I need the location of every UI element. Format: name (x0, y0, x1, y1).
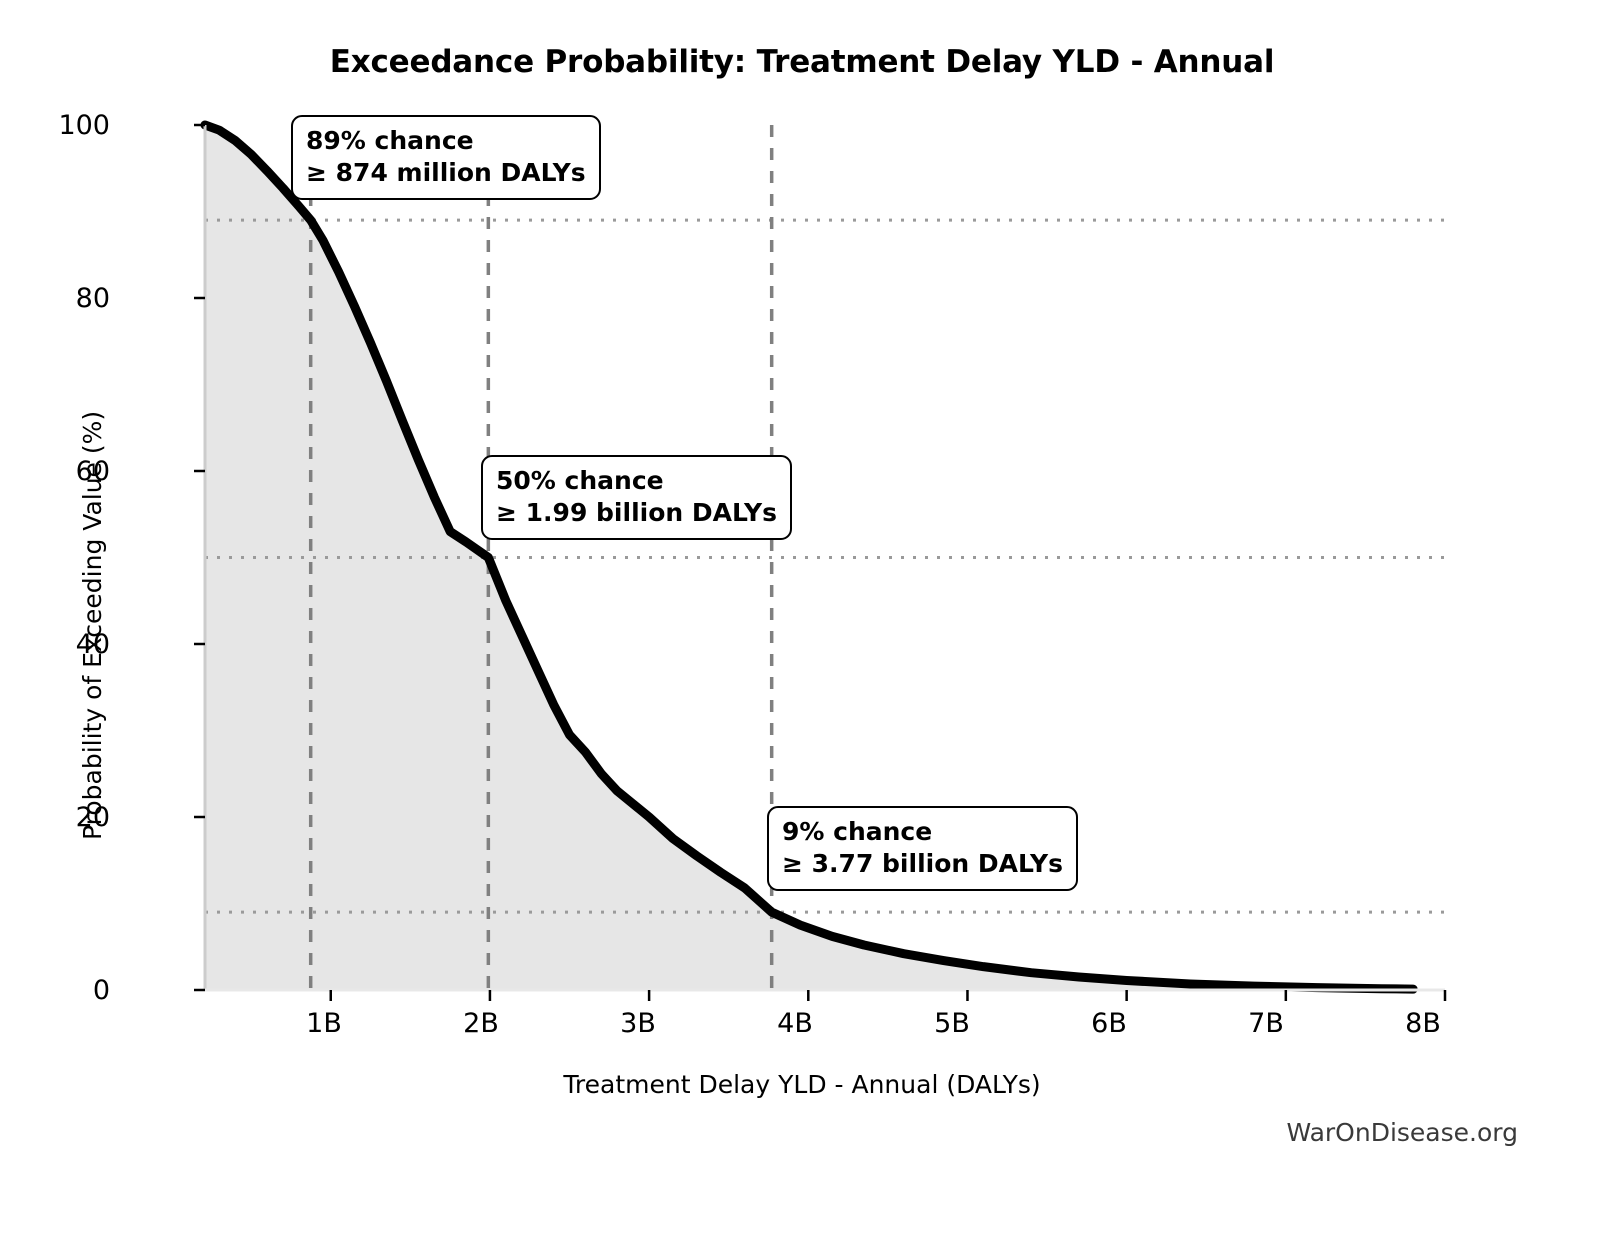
x-tick-label-2B: 2B (441, 1008, 521, 1039)
x-tick-label-6B: 6B (1069, 1008, 1149, 1039)
x-tick-label-3B: 3B (598, 1008, 678, 1039)
plot-canvas (0, 0, 1604, 1234)
x-axis-label: Treatment Delay YLD - Annual (DALYs) (0, 1070, 1604, 1099)
x-tick-label-7B: 7B (1226, 1008, 1306, 1039)
y-axis-label-wrap: Probability of Exceeding Value (%) (0, 0, 100, 1000)
site-credit: WarOnDisease.org (1286, 1118, 1518, 1147)
annotation-9-percent: 9% chance ≥ 3.77 billion DALYs (767, 806, 1078, 891)
exceedance-probability-chart: Exceedance Probability: Treatment Delay … (0, 0, 1604, 1234)
x-tick-label-1B: 1B (284, 1008, 364, 1039)
x-tick-label-8B: 8B (1383, 1008, 1463, 1039)
annotation-89-line1: 89% chance (306, 125, 586, 157)
x-tick-label-5B: 5B (912, 1008, 992, 1039)
annotation-9-line1: 9% chance (782, 816, 1063, 848)
annotation-50-line2: ≥ 1.99 billion DALYs (496, 497, 777, 529)
annotation-89-percent: 89% chance ≥ 874 million DALYs (291, 115, 601, 200)
annotation-50-percent: 50% chance ≥ 1.99 billion DALYs (481, 455, 792, 540)
x-tick-label-4B: 4B (755, 1008, 835, 1039)
annotation-9-line2: ≥ 3.77 billion DALYs (782, 848, 1063, 880)
annotation-89-line2: ≥ 874 million DALYs (306, 157, 586, 189)
annotation-50-line1: 50% chance (496, 465, 777, 497)
y-axis-label: Probability of Exceeding Value (%) (78, 411, 107, 840)
